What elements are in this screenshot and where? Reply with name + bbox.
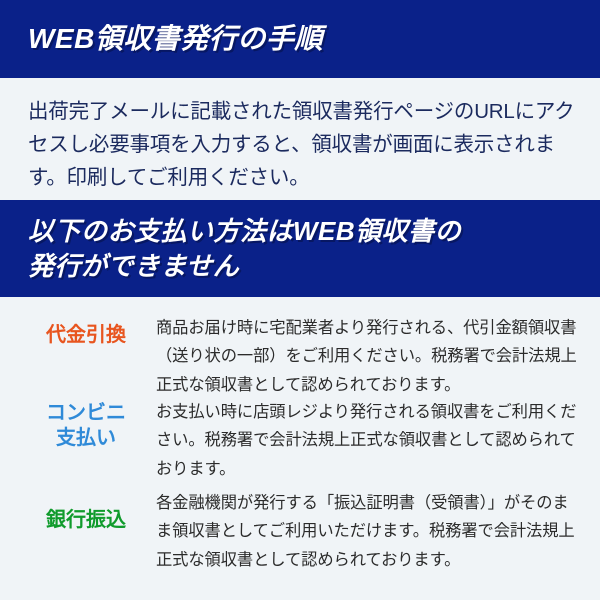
payment-method-description-cash-on-delivery: 商品お届け時に宅配業者より発行される、代引金額領収書（送り状の一部）をご利用くだ… bbox=[144, 314, 584, 399]
receipt-info-page: WEB領収書発行の手順 出荷完了メールに記載された領収書発行ページのURLにアク… bbox=[0, 0, 600, 600]
label-line-1: 銀行振込 bbox=[28, 508, 144, 533]
payment-method-row-cash-on-delivery: 代金引換 商品お届け時に宅配業者より発行される、代引金額領収書（送り状の一部）を… bbox=[0, 314, 600, 398]
label-line-2: 支払い bbox=[28, 426, 144, 451]
intro-section: 出荷完了メールに記載された領収書発行ページのURLにアクセスし必要事項を入力する… bbox=[0, 78, 600, 200]
intro-paragraph: 出荷完了メールに記載された領収書発行ページのURLにアクセスし必要事項を入力する… bbox=[28, 95, 578, 195]
notice-title: 以下のお支払い方法はWEB領収書の 発行ができません bbox=[28, 214, 600, 283]
payment-method-description-convenience-store: お支払い時に店頭レジより発行される領収書をご利用ください。税務署で会計法規上正式… bbox=[144, 398, 584, 483]
payment-method-label-bank-transfer: 銀行振込 bbox=[28, 489, 144, 533]
payment-method-row-convenience-store: コンビニ 支払い お支払い時に店頭レジより発行される領収書をご利用ください。税務… bbox=[0, 398, 600, 489]
notice-title-line-2: 発行ができません bbox=[28, 249, 600, 283]
label-line-1: コンビニ bbox=[28, 401, 144, 426]
payment-method-label-cash-on-delivery: 代金引換 bbox=[28, 314, 144, 348]
payment-method-label-convenience-store: コンビニ 支払い bbox=[28, 398, 144, 451]
notice-title-line-1: 以下のお支払い方法はWEB領収書の bbox=[28, 214, 600, 248]
notice-banner: 以下のお支払い方法はWEB領収書の 発行ができません bbox=[0, 200, 600, 297]
payment-method-description-bank-transfer: 各金融機関が発行する「振込証明書（受領書）」がそのまま領収書としてご利用いただけ… bbox=[144, 489, 584, 574]
header-banner: WEB領収書発行の手順 bbox=[0, 0, 600, 78]
payment-methods-list: 代金引換 商品お届け時に宅配業者より発行される、代引金額領収書（送り状の一部）を… bbox=[0, 297, 600, 569]
label-line-1: 代金引換 bbox=[28, 323, 144, 348]
page-title: WEB領収書発行の手順 bbox=[28, 23, 600, 55]
payment-method-row-bank-transfer: 銀行振込 各金融機関が発行する「振込証明書（受領書）」がそのまま領収書としてご利… bbox=[0, 489, 600, 569]
